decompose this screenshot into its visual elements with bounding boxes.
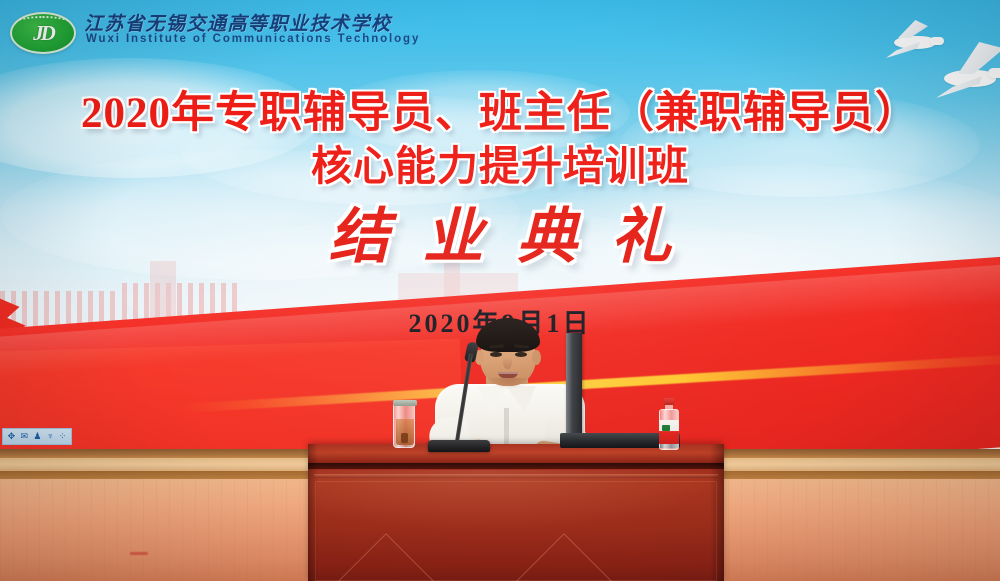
- shirt-icon: ♆: [47, 432, 54, 441]
- hair: [476, 318, 540, 352]
- banner-title-line-1: 2020年专职辅导员、班主任（兼职辅导员）: [0, 88, 1000, 140]
- tumbler-lid: [393, 400, 417, 406]
- grid-icon: ⁘: [59, 432, 67, 441]
- emblem-glyph: JD: [10, 12, 76, 54]
- wall-placard: ✥ ✉ ♟ ♆ ⁘: [2, 428, 72, 445]
- bottle-cap: [664, 398, 674, 405]
- podium-shadow-left: [308, 444, 318, 581]
- podium-sheen: [308, 470, 724, 530]
- dove-icon: [872, 20, 944, 60]
- podium-diamond-motif-left: [335, 533, 437, 581]
- banner-ceremony-headline: 结业典礼: [0, 196, 1000, 278]
- bottle-label: [659, 420, 679, 444]
- bottle-label-mark: [662, 425, 670, 431]
- ear-right: [532, 350, 541, 365]
- banner-title-line-2: 核心能力提升培训班: [0, 140, 1000, 192]
- school-name-chinese: 江苏省无锡交通高等职业技术学校: [84, 9, 392, 36]
- person-icon: ♟: [33, 432, 41, 441]
- school-identity-block: JD 江苏省无锡交通高等职业技术学校 Wuxi Institute of Com…: [0, 0, 400, 62]
- tumbler-tea-leaves: [401, 433, 408, 443]
- eye-right: [515, 352, 527, 357]
- podium-diamond-motif-right: [513, 533, 615, 581]
- water-bottle: [659, 398, 679, 450]
- laptop-screen: [566, 333, 582, 445]
- banner-title: 2020年专职辅导员、班主任（兼职辅导员） 核心能力提升培训班: [0, 88, 1000, 192]
- arrows-icon: ✥: [8, 432, 16, 441]
- podium-top-shadow: [308, 463, 724, 469]
- chin-shadow: [488, 378, 530, 388]
- glass-tumbler: [393, 403, 415, 448]
- podium-shadow-right: [710, 444, 724, 581]
- floor-scuff-mark: [130, 552, 148, 555]
- nose: [503, 357, 512, 369]
- podium-desk: [308, 444, 724, 581]
- ceremony-photograph: JD 江苏省无锡交通高等职业技术学校 Wuxi Institute of Com…: [0, 0, 1000, 581]
- envelope-icon: ✉: [20, 432, 28, 441]
- microphone-base: [428, 440, 490, 452]
- eye-left: [490, 352, 502, 357]
- school-emblem-icon: JD: [10, 12, 76, 54]
- school-name-english: Wuxi Institute of Communications Technol…: [86, 33, 420, 45]
